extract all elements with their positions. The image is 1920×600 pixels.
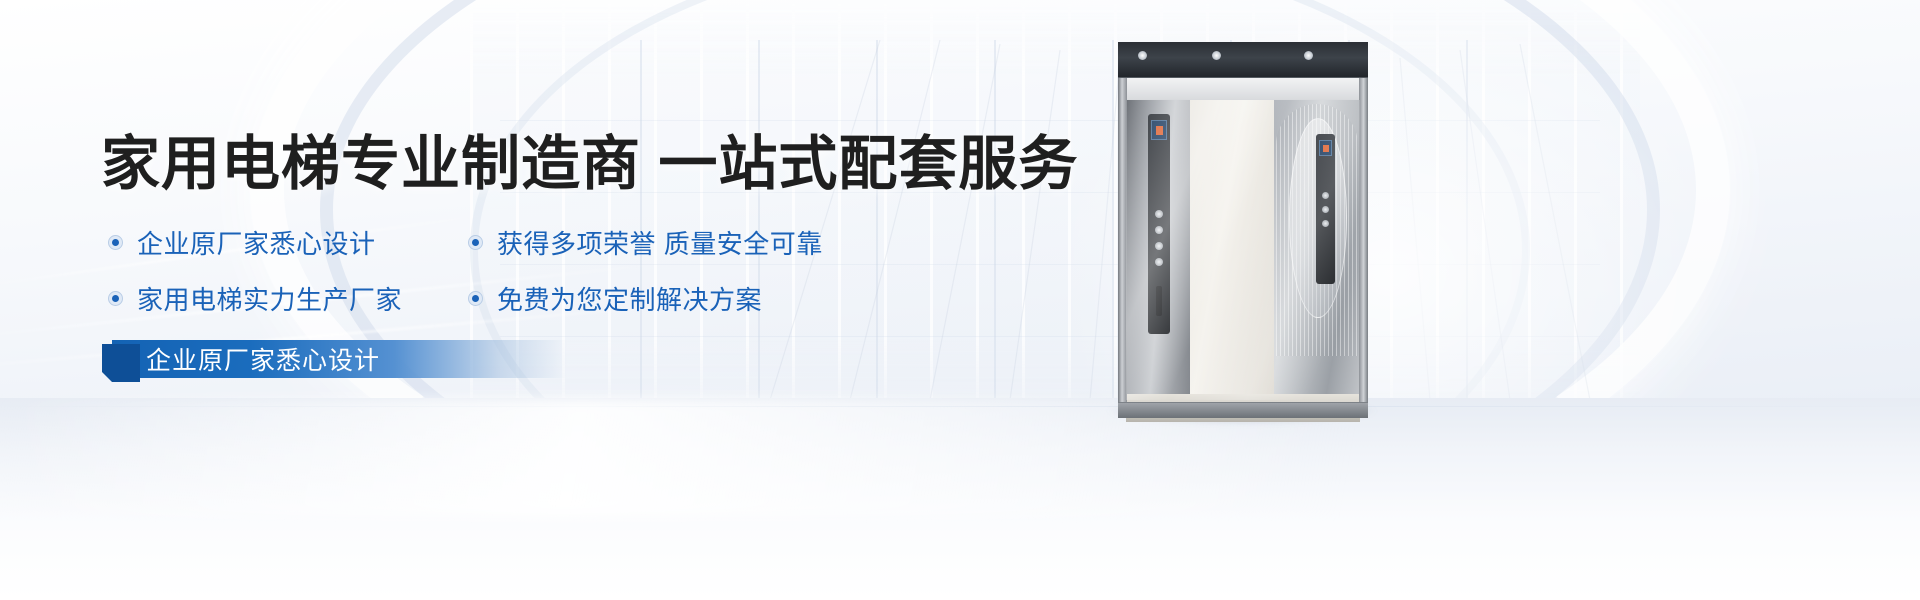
floor-button-icon [1322, 206, 1329, 213]
ceiling-light-icon [1138, 51, 1147, 60]
elevator-ceiling [1126, 78, 1360, 100]
floor-button-icon [1322, 192, 1329, 199]
ceiling-light-icon [1212, 51, 1221, 60]
floor-button-icon [1155, 210, 1163, 218]
floor-indicator-display [1151, 120, 1167, 140]
bullet-dot-icon [468, 291, 483, 306]
ceiling-light-icon [1304, 51, 1313, 60]
feature-list: 企业原厂家悉心设计 获得多项荣誉 质量安全可靠 家用电梯实力生产厂家 免费为您定… [108, 214, 898, 326]
floor-button-icon [1155, 258, 1163, 266]
highlight-ribbon-label: 企业原厂家悉心设计 [146, 341, 380, 377]
banner-content: 家用电梯专业制造商 一站式配套服务 企业原厂家悉心设计 获得多项荣誉 质量安全可… [0, 0, 1100, 600]
banner-headline: 家用电梯专业制造商 一站式配套服务 [101, 116, 1078, 201]
feature-item-label: 免费为您定制解决方案 [497, 280, 762, 317]
floor-button-icon [1155, 242, 1163, 250]
ribbon-tab-icon [102, 344, 140, 382]
feature-item-label: 企业原厂家悉心设计 [137, 224, 376, 261]
feature-item-label: 获得多项荣誉 质量安全可靠 [497, 224, 823, 261]
control-panel-slot [1156, 286, 1162, 316]
cabin-panel-center [1190, 100, 1274, 400]
feature-item-3: 家用电梯实力生产厂家 [108, 280, 468, 317]
hero-banner: 家用电梯专业制造商 一站式配套服务 企业原厂家悉心设计 获得多项荣誉 质量安全可… [0, 0, 1920, 600]
elevator-cabin-interior [1126, 100, 1360, 400]
elevator-rail-right [1359, 78, 1368, 402]
floor-button-icon [1322, 220, 1329, 227]
elevator-header-box [1118, 42, 1368, 78]
bullet-dot-icon [108, 235, 123, 250]
feature-item-4: 免费为您定制解决方案 [468, 280, 898, 317]
bullet-dot-icon [108, 291, 123, 306]
elevator-base [1118, 402, 1368, 418]
floor-indicator-display-secondary [1319, 140, 1332, 156]
feature-item-1: 企业原厂家悉心设计 [108, 224, 468, 261]
home-elevator-cabin-image [1118, 42, 1368, 417]
bullet-dot-icon [468, 235, 483, 250]
highlight-ribbon: 企业原厂家悉心设计 [112, 340, 567, 378]
elevator-rail-left [1118, 78, 1127, 402]
floor-button-icon [1155, 226, 1163, 234]
feature-item-label: 家用电梯实力生产厂家 [137, 280, 402, 317]
feature-item-2: 获得多项荣誉 质量安全可靠 [468, 224, 898, 261]
